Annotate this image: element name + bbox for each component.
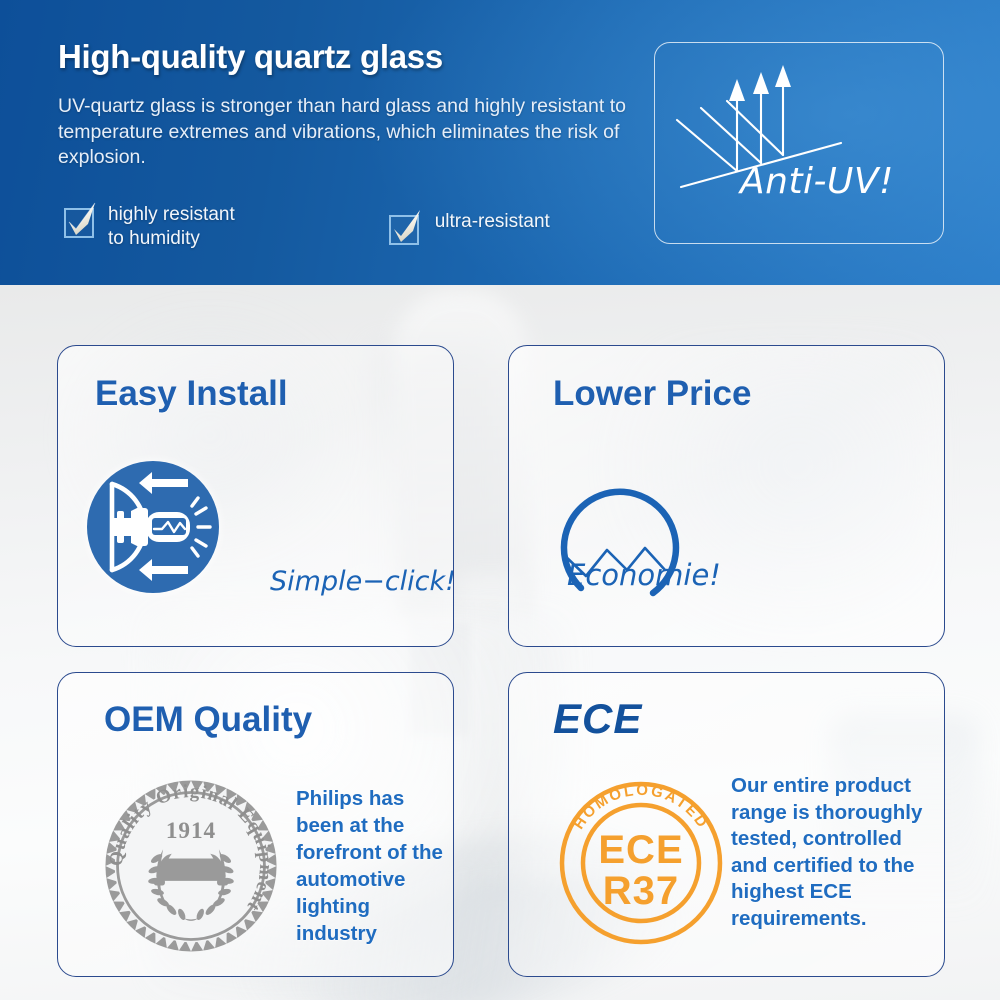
checkbox-checked-icon — [64, 208, 96, 240]
svg-text:R37: R37 — [603, 869, 679, 913]
checklist-item-label: ultra-resistant — [435, 210, 550, 234]
page-title: High-quality quartz glass — [58, 38, 443, 76]
headlamp-bulb-install-icon — [84, 458, 222, 596]
easy-install-caption: Simple−click! — [270, 566, 454, 597]
header-banner: High-quality quartz glass UV-quartz glas… — [0, 0, 1000, 285]
header-description: UV-quartz glass is stronger than hard gl… — [58, 94, 628, 171]
card-title: Lower Price — [553, 374, 751, 414]
checkbox-checked-icon — [389, 215, 421, 247]
card-title: Easy Install — [95, 374, 288, 414]
checklist-item-label: highly resistant to humidity — [108, 203, 235, 251]
anti-uv-panel: Anti-UV! — [654, 42, 944, 244]
feature-card-easy-install[interactable]: Easy Install — [57, 345, 454, 647]
card-title: OEM Quality — [104, 700, 312, 740]
ece-homologated-stamp-icon: HOMOLOGATED ECE R37 — [549, 771, 733, 955]
infographic-page: High-quality quartz glass UV-quartz glas… — [0, 0, 1000, 1000]
feature-card-ece[interactable]: ECE HOMOLOGATED ECE R37 Our entire produ… — [508, 672, 945, 977]
svg-text:1914: 1914 — [166, 818, 216, 844]
uv-reflection-icon — [655, 43, 943, 243]
savings-arc-icon — [541, 466, 711, 626]
ece-body: Our entire product range is thoroughly t… — [731, 773, 931, 932]
checklist-item: ultra-resistant — [389, 203, 550, 247]
feature-card-oem-quality[interactable]: OEM Quality — [57, 672, 454, 977]
feature-card-lower-price[interactable]: Lower Price Economie! — [508, 345, 945, 647]
oem-quality-body: Philips has been at the forefront of the… — [296, 785, 454, 947]
checklist-item: highly resistant to humidity — [64, 203, 235, 251]
header-checklist: highly resistant to humidity ultra-resis… — [64, 203, 550, 251]
svg-text:ECE: ECE — [598, 828, 683, 872]
card-title: ECE — [553, 695, 642, 743]
lower-price-caption: Economie! — [567, 558, 721, 592]
quality-original-equipment-seal-icon: Quality Original Equipment 1914 — [98, 773, 284, 959]
anti-uv-label: Anti-UV! — [740, 161, 894, 202]
